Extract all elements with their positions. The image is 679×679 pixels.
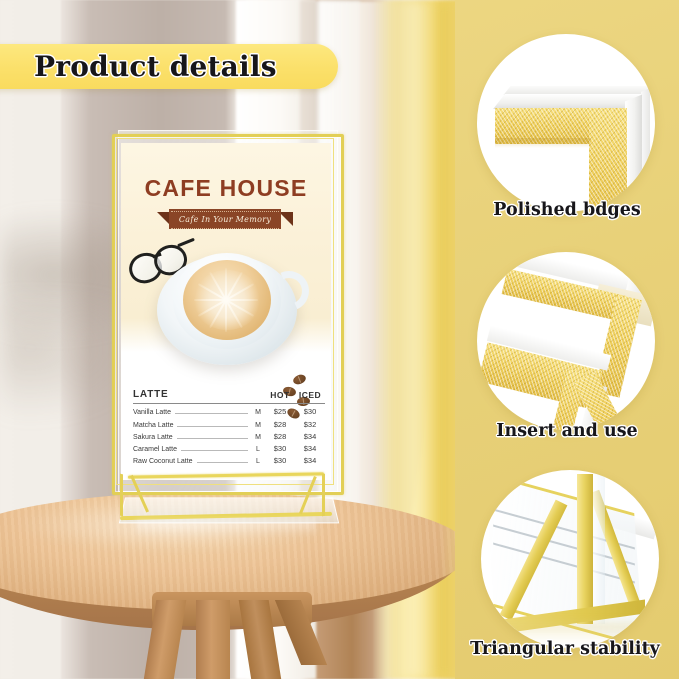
menu-item-hot-price: $30 — [265, 444, 295, 453]
menu-leader-line — [197, 461, 248, 463]
menu-item-size: L — [251, 458, 265, 465]
product-details-infographic: CAFE HOUSE Cafe In Your Memory — [0, 0, 679, 679]
ribbon-right-tail — [279, 212, 293, 226]
menu-column-hot: HOT — [265, 390, 295, 400]
acrylic-sign-holder: CAFE HOUSE Cafe In Your Memory — [112, 130, 342, 520]
eyeglasses-temple — [177, 238, 195, 248]
feature-image-polished-edges — [477, 34, 655, 212]
feature-image-insert-and-use — [477, 252, 655, 430]
gold-edge-shading — [495, 138, 591, 148]
base-reflection — [136, 520, 316, 536]
base-gold-edge-left — [120, 474, 123, 517]
menu-leader-line — [181, 449, 248, 451]
menu-item-size: M — [251, 409, 265, 416]
menu-item-iced-price: $34 — [295, 444, 325, 453]
coffee-bean — [292, 373, 307, 386]
menu-row: Raw Coconut Latte L $30 $34 — [133, 453, 325, 465]
menu-item-hot-price: $30 — [265, 456, 295, 465]
menu-item-name: Matcha Latte — [133, 422, 173, 429]
clear-vertical-panel — [593, 474, 605, 624]
menu-leader-line — [177, 437, 248, 439]
menu-item-iced-price: $34 — [295, 432, 325, 441]
menu-row: Sakura Latte M $28 $34 — [133, 429, 325, 441]
menu-item-iced-price: $32 — [295, 420, 325, 429]
menu-item-size: M — [251, 434, 265, 441]
menu-row: Matcha Latte M $28 $32 — [133, 416, 325, 428]
menu-row: Vanilla Latte M $25 $30 — [133, 404, 325, 416]
menu-item-name: Sakura Latte — [133, 434, 173, 441]
acrylic-white-layer-top — [493, 94, 645, 109]
menu-item-hot-price: $28 — [265, 420, 295, 429]
menu-item-name: Vanilla Latte — [133, 409, 171, 416]
acrylic-white-layer-right — [625, 95, 642, 212]
menu-item-name: Caramel Latte — [133, 446, 177, 453]
menu-item-hot-price: $28 — [265, 432, 295, 441]
cafe-name: CAFE HOUSE — [121, 175, 331, 202]
menu-leader-line — [175, 412, 248, 414]
product-photo-scene: CAFE HOUSE Cafe In Your Memory — [0, 0, 470, 679]
menu-item-iced-price: $30 — [295, 407, 325, 416]
gold-vertical-post — [577, 474, 593, 624]
menu-item-name: Raw Coconut Latte — [133, 458, 193, 465]
menu-item-size: L — [251, 446, 265, 453]
table-leg — [196, 600, 230, 679]
feature-panel: Polished bdges Insert and use — [455, 0, 679, 679]
latte-art-rosetta — [193, 270, 261, 330]
feature-label-triangular-stability: Triangular stability — [453, 639, 677, 659]
triangular-acrylic-base — [116, 468, 340, 530]
menu-price-table: LATTE HOT ICED Vanilla Latte M $25 $30 M… — [133, 389, 325, 465]
menu-row: Caramel Latte L $30 $34 — [133, 441, 325, 453]
menu-item-size: M — [251, 422, 265, 429]
menu-column-iced: ICED — [295, 390, 325, 400]
menu-insert-card: CAFE HOUSE Cafe In Your Memory — [121, 143, 331, 480]
cafe-tagline: Cafe In Your Memory — [169, 211, 281, 229]
menu-section-label: LATTE — [133, 389, 265, 400]
menu-leader-line — [177, 425, 248, 427]
page-title: Product details — [34, 44, 334, 89]
gold-glitter-edge-vertical — [589, 108, 627, 212]
base-gold-edge-top — [128, 472, 324, 478]
menu-table-header: LATTE HOT ICED — [133, 389, 325, 404]
menu-item-hot-price: $25 — [265, 407, 295, 416]
feature-label-insert-and-use: Insert and use — [455, 421, 679, 441]
acrylic-white-layer-right-back — [641, 88, 650, 212]
menu-item-iced-price: $34 — [295, 456, 325, 465]
feature-label-polished-edges: Polished bdges — [455, 200, 679, 220]
base-gold-edge-right — [322, 474, 325, 517]
feature-image-triangular-stability — [481, 470, 659, 648]
